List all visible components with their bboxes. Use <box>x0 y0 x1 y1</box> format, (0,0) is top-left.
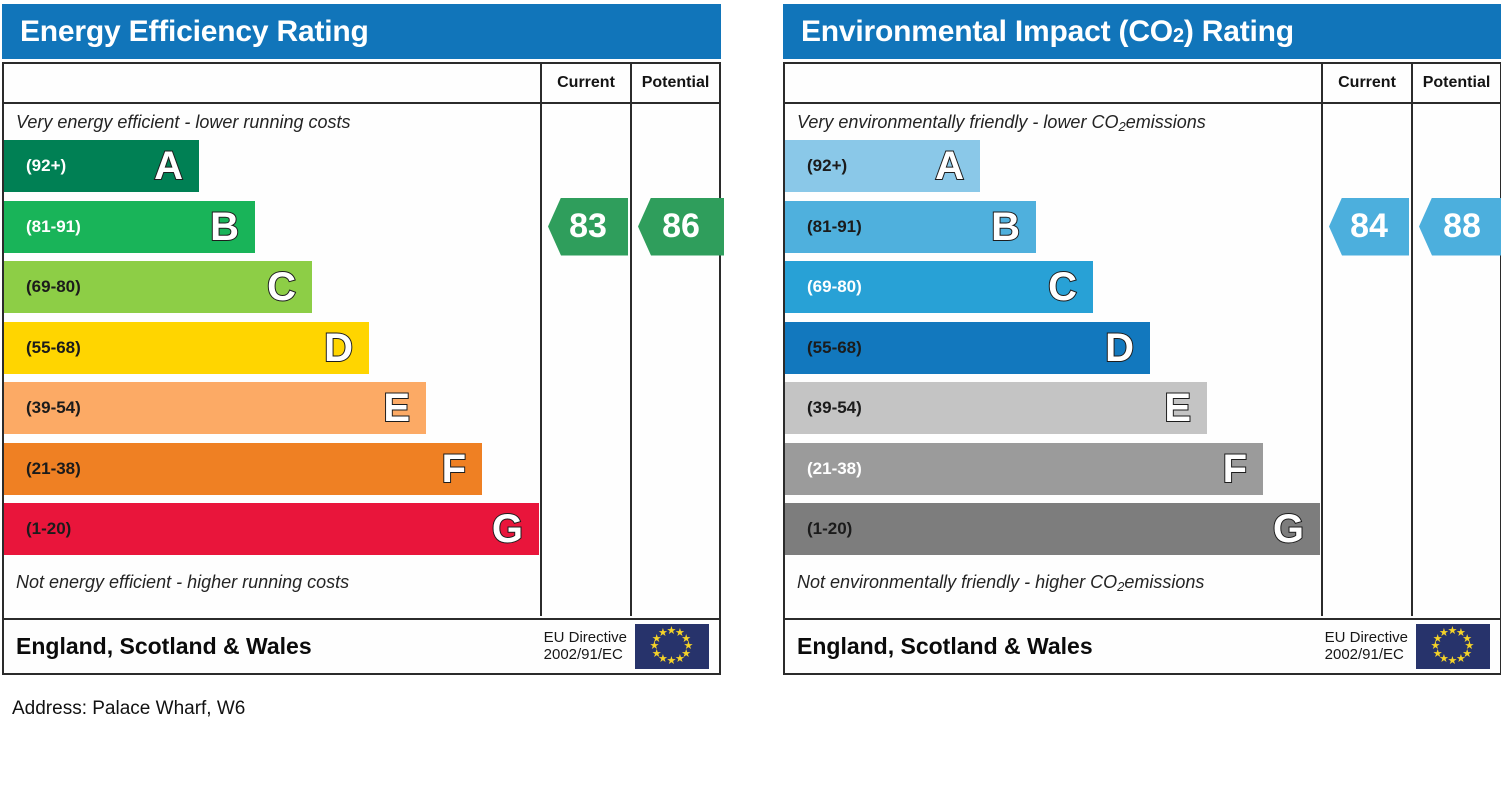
caption-suffix: emissions <box>1124 572 1204 593</box>
band-row-D: (55-68)D <box>785 322 1150 374</box>
band-range-A: (92+) <box>785 156 847 176</box>
band-letter-B: B <box>991 207 1020 247</box>
band-letter-E: E <box>383 388 410 428</box>
band-row-E: (39-54)E <box>4 382 426 434</box>
rating-current-value: 83 <box>569 207 607 246</box>
band-row-A: (92+)A <box>785 140 980 192</box>
eu-flag-star: ★ <box>675 654 685 665</box>
band-range-A: (92+) <box>4 156 66 176</box>
band-letter-G: G <box>492 509 523 549</box>
band-range-D: (55-68) <box>785 338 862 358</box>
band-range-G: (1-20) <box>785 519 852 539</box>
band-row-E: (39-54)E <box>785 382 1207 434</box>
eu-flag: ★★★★★★★★★★★★ <box>635 624 709 669</box>
chart-title: Environmental Impact (CO2) Rating <box>783 4 1501 59</box>
band-letter-E: E <box>1164 388 1191 428</box>
header-potential-cell: Potential <box>1411 64 1500 102</box>
eu-flag-star: ★ <box>1439 628 1449 639</box>
eu-flag: ★★★★★★★★★★★★ <box>1416 624 1490 669</box>
rating-current-arrow: 83 <box>548 198 628 256</box>
band-row-C: (69-80)C <box>4 261 312 313</box>
header-current-cell: Current <box>540 64 630 102</box>
band-range-B: (81-91) <box>4 217 81 237</box>
header-blank-cell <box>4 64 540 102</box>
chart-title-suffix: ) Rating <box>1184 15 1294 49</box>
band-letter-B: B <box>210 207 239 247</box>
rating-potential-arrow: 88 <box>1419 198 1501 256</box>
caption-bottom: Not energy efficient - higher running co… <box>4 564 540 600</box>
eu-flag-star: ★ <box>1456 654 1466 665</box>
band-letter-A: A <box>154 146 183 186</box>
band-row-B: (81-91)B <box>4 201 255 253</box>
directive-line-1: EU Directive <box>544 630 627 647</box>
band-row-F: (21-38)F <box>4 443 482 495</box>
band-letter-F: F <box>1223 449 1247 489</box>
band-letter-D: D <box>1105 328 1134 368</box>
band-letter-G: G <box>1273 509 1304 549</box>
table-header-row: CurrentPotential <box>4 64 719 104</box>
caption-top: Very energy efficient - lower running co… <box>4 104 540 140</box>
band-range-B: (81-91) <box>785 217 862 237</box>
band-row-G: (1-20)G <box>785 503 1320 555</box>
column-divider-current <box>540 104 542 616</box>
band-row-G: (1-20)G <box>4 503 539 555</box>
co2-subscript: 2 <box>1117 579 1124 594</box>
band-range-E: (39-54) <box>4 398 81 418</box>
caption-suffix: emissions <box>1126 112 1206 133</box>
band-range-F: (21-38) <box>785 459 862 479</box>
band-list: (92+)A(81-91)B(69-80)C(55-68)D(39-54)E(2… <box>785 140 1321 564</box>
co2-subscript: 2 <box>1118 119 1125 134</box>
directive-line-2: 2002/91/EC <box>544 647 627 664</box>
band-range-G: (1-20) <box>4 519 71 539</box>
address-label: Address: Palace Wharf, W6 <box>12 698 245 720</box>
band-row-F: (21-38)F <box>785 443 1263 495</box>
epc-chart-energy-efficiency: Energy Efficiency RatingCurrentPotential… <box>2 4 721 676</box>
column-divider-current <box>1321 104 1323 616</box>
band-letter-F: F <box>442 449 466 489</box>
column-divider-potential <box>630 104 632 616</box>
epc-chart-environmental-impact: Environmental Impact (CO2) RatingCurrent… <box>783 4 1501 676</box>
band-row-B: (81-91)B <box>785 201 1036 253</box>
caption-text: Very environmentally friendly - lower CO <box>797 112 1118 133</box>
caption-text: Not environmentally friendly - higher CO <box>797 572 1117 593</box>
header-current-cell: Current <box>1321 64 1411 102</box>
chart-footer: England, Scotland & WalesEU Directive200… <box>785 618 1500 673</box>
chart-title: Energy Efficiency Rating <box>2 4 721 59</box>
directive-line-2: 2002/91/EC <box>1325 647 1408 664</box>
directive-line-1: EU Directive <box>1325 630 1408 647</box>
band-row-A: (92+)A <box>4 140 199 192</box>
rating-potential-arrow: 86 <box>638 198 724 256</box>
rating-table: CurrentPotentialVery environmentally fri… <box>783 62 1501 675</box>
rating-potential-value: 86 <box>662 207 700 246</box>
header-blank-cell <box>785 64 1321 102</box>
footer-directive-label: EU Directive2002/91/EC <box>1325 630 1416 664</box>
band-letter-D: D <box>324 328 353 368</box>
header-potential-cell: Potential <box>630 64 719 102</box>
band-letter-C: C <box>267 267 296 307</box>
column-divider-potential <box>1411 104 1413 616</box>
eu-flag-star: ★ <box>658 628 668 639</box>
band-range-D: (55-68) <box>4 338 81 358</box>
band-range-F: (21-38) <box>4 459 81 479</box>
chart-title-text: Environmental Impact (CO <box>801 15 1173 49</box>
footer-directive-label: EU Directive2002/91/EC <box>544 630 635 664</box>
caption-bottom: Not environmentally friendly - higher CO… <box>785 564 1321 600</box>
band-letter-A: A <box>935 146 964 186</box>
co2-subscript: 2 <box>1173 25 1184 48</box>
caption-top: Very environmentally friendly - lower CO… <box>785 104 1321 140</box>
band-range-E: (39-54) <box>785 398 862 418</box>
band-range-C: (69-80) <box>4 277 81 297</box>
footer-region-label: England, Scotland & Wales <box>4 633 544 660</box>
band-row-D: (55-68)D <box>4 322 369 374</box>
band-list: (92+)A(81-91)B(69-80)C(55-68)D(39-54)E(2… <box>4 140 540 564</box>
table-header-row: CurrentPotential <box>785 64 1500 104</box>
band-letter-C: C <box>1048 267 1077 307</box>
rating-potential-value: 88 <box>1443 207 1481 246</box>
rating-table: CurrentPotentialVery energy efficient - … <box>2 62 721 675</box>
band-row-C: (69-80)C <box>785 261 1093 313</box>
epc-page: Energy Efficiency RatingCurrentPotential… <box>0 0 1501 805</box>
rating-current-arrow: 84 <box>1329 198 1409 256</box>
band-range-C: (69-80) <box>785 277 862 297</box>
footer-region-label: England, Scotland & Wales <box>785 633 1325 660</box>
chart-footer: England, Scotland & WalesEU Directive200… <box>4 618 719 673</box>
rating-current-value: 84 <box>1350 207 1388 246</box>
